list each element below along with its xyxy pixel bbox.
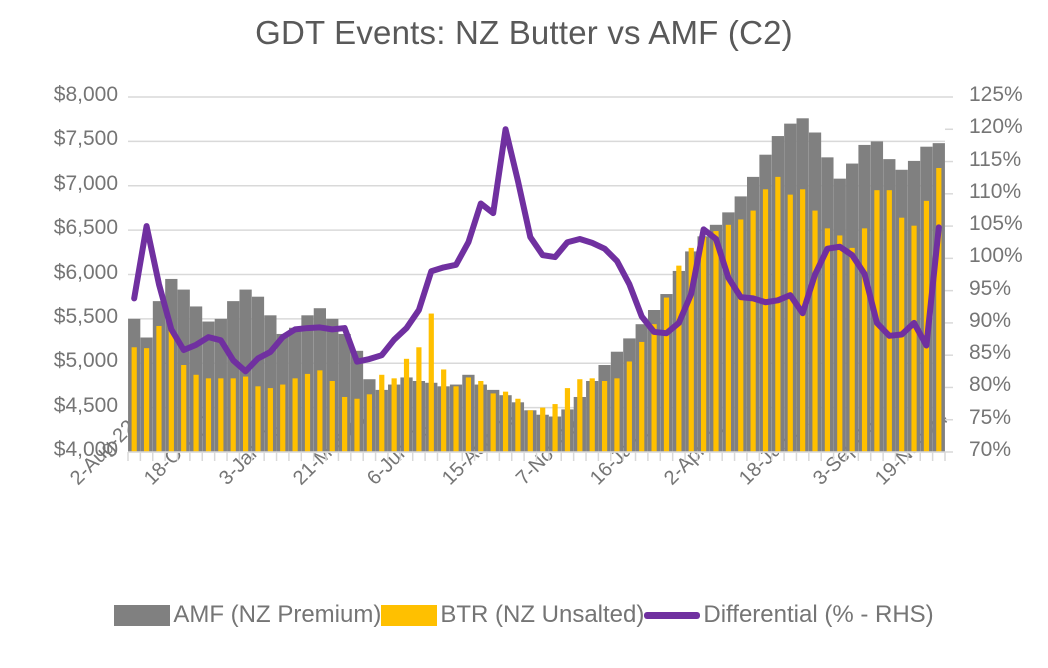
- chart-title: GDT Events: NZ Butter vs AMF (C2): [0, 14, 1048, 52]
- left-axis-tick-label: $5,500: [8, 305, 118, 329]
- right-axis-tick-label: 100%: [969, 244, 1023, 268]
- btr-bar: [528, 410, 533, 452]
- plot-area: [128, 97, 945, 452]
- btr-bar: [515, 399, 520, 452]
- right-axis-tick-label: 70%: [969, 438, 1011, 462]
- btr-bar: [639, 342, 644, 452]
- btr-bar: [552, 404, 557, 452]
- amf-bar-series: [128, 118, 945, 452]
- btr-bar: [825, 228, 830, 452]
- btr-bar: [738, 219, 743, 452]
- btr-bar: [837, 235, 842, 452]
- btr-bar: [317, 370, 322, 452]
- btr-bar: [676, 266, 681, 452]
- right-axis-tick-label: 75%: [969, 406, 1011, 430]
- legend-color-swatch: [381, 605, 437, 626]
- right-axis-tick-label: 115%: [969, 148, 1021, 172]
- right-axis-tick-label: 105%: [969, 212, 1023, 236]
- plot-svg: [128, 97, 945, 452]
- btr-bar: [243, 377, 248, 452]
- btr-bar: [144, 348, 149, 452]
- btr-bar: [156, 326, 161, 452]
- btr-bar: [602, 381, 607, 452]
- btr-bar: [206, 378, 211, 452]
- left-axis-tick-label: $7,000: [8, 172, 118, 196]
- btr-bar: [231, 378, 236, 452]
- btr-bar: [701, 237, 706, 452]
- btr-bar: [627, 361, 632, 452]
- btr-bar: [132, 347, 137, 452]
- right-axis-tick-label: 95%: [969, 277, 1011, 301]
- legend-label: Differential (% - RHS): [700, 601, 933, 629]
- right-axis-tick-label: 110%: [969, 180, 1021, 204]
- right-axis-ticks: [945, 97, 953, 452]
- btr-bar: [404, 359, 409, 452]
- btr-bar: [713, 231, 718, 452]
- left-axis-tick-label: $4,500: [8, 394, 118, 418]
- btr-bar: [218, 378, 223, 452]
- btr-bar: [367, 394, 372, 452]
- btr-bar: [763, 189, 768, 452]
- btr-bar: [379, 375, 384, 452]
- legend-color-swatch: [114, 605, 170, 626]
- right-axis-tick-label: 80%: [969, 373, 1011, 397]
- btr-bar: [565, 388, 570, 452]
- btr-bar: [293, 378, 298, 452]
- btr-bar: [850, 248, 855, 452]
- btr-bar: [268, 388, 273, 452]
- btr-bar: [540, 408, 545, 452]
- left-axis-tick-label: $6,000: [8, 261, 118, 285]
- btr-bar: [416, 347, 421, 452]
- left-axis-tick-label: $5,000: [8, 349, 118, 373]
- btr-bar: [466, 377, 471, 452]
- chart-container: GDT Events: NZ Butter vs AMF (C2) $8,000…: [0, 0, 1048, 668]
- legend-amf[interactable]: AMF (NZ Premium): [114, 601, 381, 629]
- btr-bar: [812, 211, 817, 452]
- btr-bar: [392, 378, 397, 452]
- btr-bar: [577, 379, 582, 452]
- legend-line-marker: [644, 612, 700, 619]
- btr-bar: [936, 168, 941, 452]
- btr-bar: [887, 190, 892, 452]
- right-axis-tick-label: 85%: [969, 341, 1011, 365]
- btr-bar: [181, 365, 186, 452]
- btr-bar: [911, 226, 916, 452]
- btr-bar: [305, 374, 310, 452]
- legend-differential[interactable]: Differential (% - RHS): [644, 601, 933, 629]
- btr-bar: [280, 385, 285, 452]
- right-axis-tick-label: 120%: [969, 115, 1023, 139]
- legend-label: AMF (NZ Premium): [170, 601, 381, 629]
- btr-bar: [775, 177, 780, 452]
- btr-bar: [193, 375, 198, 452]
- legend-btr[interactable]: BTR (NZ Unsalted): [381, 601, 644, 629]
- btr-bar: [330, 381, 335, 452]
- right-axis-tick-label: 125%: [969, 83, 1023, 107]
- btr-bar: [800, 189, 805, 452]
- btr-bar: [590, 378, 595, 452]
- btr-bar: [342, 397, 347, 452]
- btr-bar: [453, 386, 458, 452]
- chart-legend: AMF (NZ Premium)BTR (NZ Unsalted)Differe…: [0, 601, 1048, 629]
- btr-bar: [478, 381, 483, 452]
- btr-bar: [491, 393, 496, 452]
- btr-bar: [354, 399, 359, 452]
- btr-bar: [255, 386, 260, 452]
- btr-bar: [503, 392, 508, 452]
- btr-bar: [441, 369, 446, 452]
- btr-bar: [664, 298, 669, 452]
- btr-bar: [652, 324, 657, 452]
- btr-bar: [726, 225, 731, 452]
- btr-bar: [429, 314, 434, 452]
- legend-label: BTR (NZ Unsalted): [437, 601, 644, 629]
- left-axis-tick-label: $6,500: [8, 216, 118, 240]
- btr-bar: [862, 228, 867, 452]
- left-axis-tick-label: $8,000: [8, 83, 118, 107]
- left-axis-tick-label: $7,500: [8, 127, 118, 151]
- btr-bar: [751, 211, 756, 452]
- right-axis-tick-label: 90%: [969, 309, 1011, 333]
- btr-bar: [169, 328, 174, 452]
- btr-bar: [614, 378, 619, 452]
- btr-bar: [788, 195, 793, 452]
